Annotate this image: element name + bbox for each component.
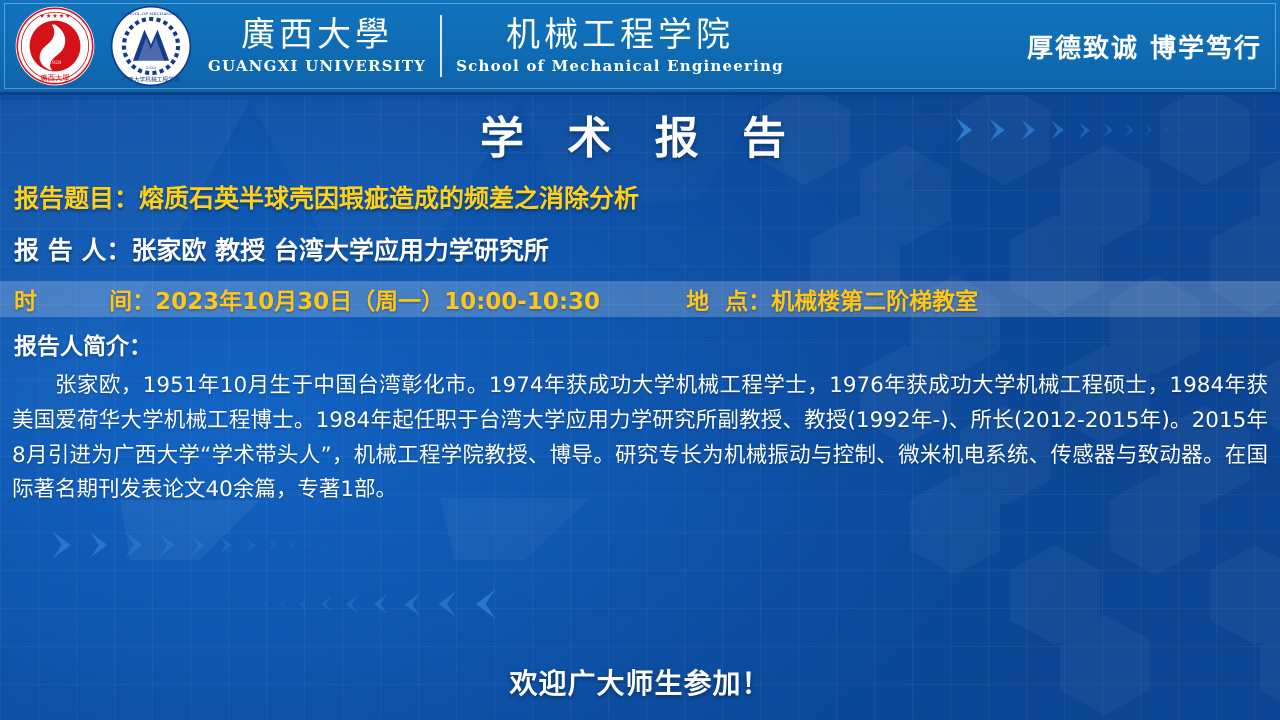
report-time: 时 间：2023年10月30日（周一）10:00-10:30	[14, 282, 600, 316]
chevron-decoration-right	[48, 528, 343, 562]
guangxi-university-seal-icon: ★ ★ ★ ★ ★ 廣西大學 1928	[14, 5, 96, 87]
svg-text:广西大学机械工程学院: 广西大学机械工程学院	[122, 75, 180, 83]
bio-body: 张家欧，1951年10月生于中国台湾彰化市。1974年获成功大学机械工程学士，1…	[0, 369, 1280, 508]
report-place: 地 点：机械楼第二阶梯教室	[686, 282, 978, 316]
school-of-mechanical-engineering-seal-icon: SCHOOL OF MECHANICAL 1932 广西大学机械工程学院	[110, 5, 192, 87]
university-name-cn: 廣西大學	[241, 18, 393, 52]
welcome-message: 欢迎广大师生参加！	[0, 662, 1280, 702]
svg-text:1932: 1932	[146, 65, 157, 70]
university-name-en: GUANGXI UNIVERSITY	[208, 57, 426, 75]
wordmark: 廣西大學 GUANGXI UNIVERSITY 机械工程学院 School of…	[208, 15, 784, 77]
page-header: ★ ★ ★ ★ ★ 廣西大學 1928 SCHOOL OF MECHANICAL…	[0, 0, 1280, 95]
chevron-decoration-left	[232, 586, 500, 622]
svg-text:1928: 1928	[49, 60, 62, 66]
school-wordmark: 机械工程学院 School of Mechanical Engineering	[456, 18, 784, 75]
university-wordmark: 廣西大學 GUANGXI UNIVERSITY	[208, 18, 426, 75]
poster-root: ★ ★ ★ ★ ★ 廣西大學 1928 SCHOOL OF MECHANICAL…	[0, 0, 1280, 720]
report-speaker: 报 告 人：张家欧 教授 台湾大学应用力学研究所	[14, 231, 1266, 267]
wordmark-divider	[440, 15, 442, 77]
bio-heading: 报告人简介：	[0, 327, 1280, 361]
svg-text:★ ★ ★ ★ ★: ★ ★ ★ ★ ★	[40, 13, 71, 19]
time-and-place-band: 时 间：2023年10月30日（周一）10:00-10:30 地 点：机械楼第二…	[0, 281, 1280, 317]
svg-text:SCHOOL OF MECHANICAL: SCHOOL OF MECHANICAL	[122, 11, 181, 16]
school-name-en: School of Mechanical Engineering	[456, 57, 784, 75]
report-topic: 报告题目：熔质石英半球壳因瑕疵造成的频差之消除分析	[14, 179, 1266, 215]
info-block: 报告题目：熔质石英半球壳因瑕疵造成的频差之消除分析 报 告 人：张家欧 教授 台…	[0, 179, 1280, 267]
page-title: 学 术 报 告	[0, 102, 1280, 166]
school-name-cn: 机械工程学院	[506, 18, 734, 52]
svg-text:廣西大學: 廣西大學	[40, 73, 70, 82]
title-row: 学 术 报 告	[0, 103, 1280, 165]
university-motto: 厚德致诚 博学笃行	[1027, 28, 1262, 65]
